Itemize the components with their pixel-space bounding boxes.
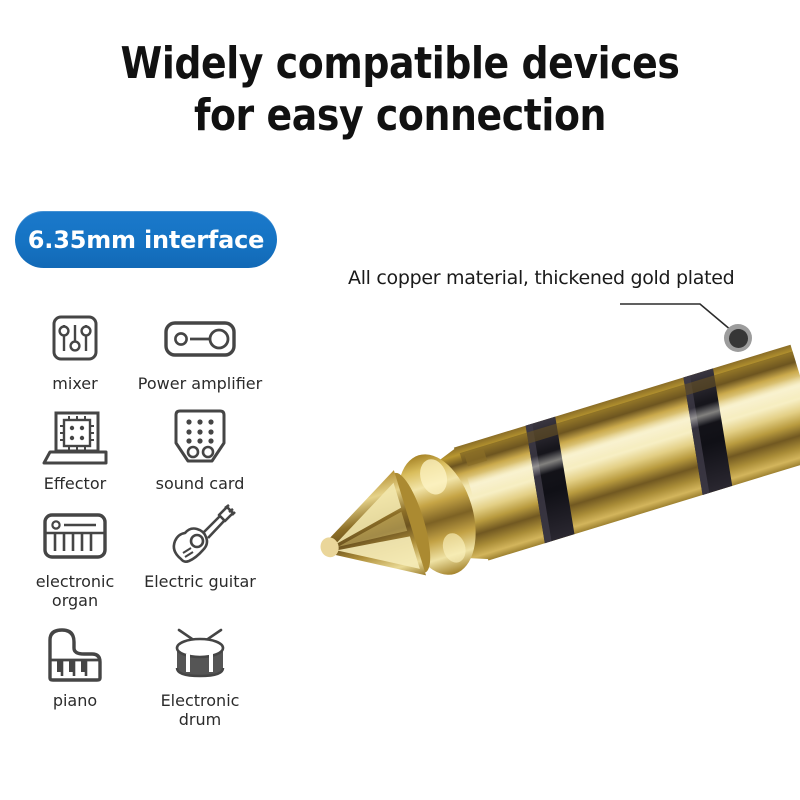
device-label: Electronic drum — [138, 691, 263, 729]
device-label: Power amplifier — [138, 374, 262, 393]
device-item-electronic-organ: electronic organ — [20, 503, 130, 610]
annotation-marker-dot — [724, 324, 752, 352]
device-item-electronic-drum: Electronic drum — [130, 622, 270, 729]
mixer-icon — [46, 305, 104, 371]
device-label: mixer — [52, 374, 97, 393]
electronic-drum-icon — [163, 622, 237, 688]
icon-row: electronic organ — [20, 503, 290, 610]
device-item-effector: Effector — [20, 405, 130, 493]
icon-row: piano Electronic drum — [20, 622, 290, 729]
device-label: sound card — [156, 474, 245, 493]
material-annotation-label: All copper material, thickened gold plat… — [348, 267, 734, 289]
annotation-leader-line — [620, 290, 800, 360]
effector-icon — [40, 405, 110, 471]
page-title-line-2: for easy connection — [56, 90, 744, 142]
page-title: Widely compatible devices for easy conne… — [56, 38, 744, 142]
interface-badge-label: 6.35mm interface — [28, 226, 264, 254]
interface-badge: 6.35mm interface — [15, 211, 277, 268]
electronic-organ-icon — [38, 503, 112, 569]
device-item-piano: piano — [20, 622, 130, 710]
device-item-sound-card: sound card — [130, 405, 270, 493]
sound-card-icon — [168, 405, 232, 471]
power-amplifier-icon — [160, 305, 240, 371]
device-label: electronic organ — [20, 572, 130, 610]
icon-row: mixer Power amplifier — [20, 305, 290, 393]
electric-guitar-icon — [163, 503, 237, 569]
icon-row: Effector sound card — [20, 405, 290, 493]
piano-icon — [40, 622, 110, 688]
device-item-mixer: mixer — [20, 305, 130, 393]
device-label: piano — [53, 691, 97, 710]
compatible-devices-list: mixer Power amplifier — [20, 305, 290, 729]
device-label: Effector — [44, 474, 106, 493]
device-item-power-amplifier: Power amplifier — [130, 305, 270, 393]
device-label: Electric guitar — [144, 572, 256, 591]
device-item-electric-guitar: Electric guitar — [130, 503, 270, 591]
page-title-line-1: Widely compatible devices — [121, 38, 680, 89]
